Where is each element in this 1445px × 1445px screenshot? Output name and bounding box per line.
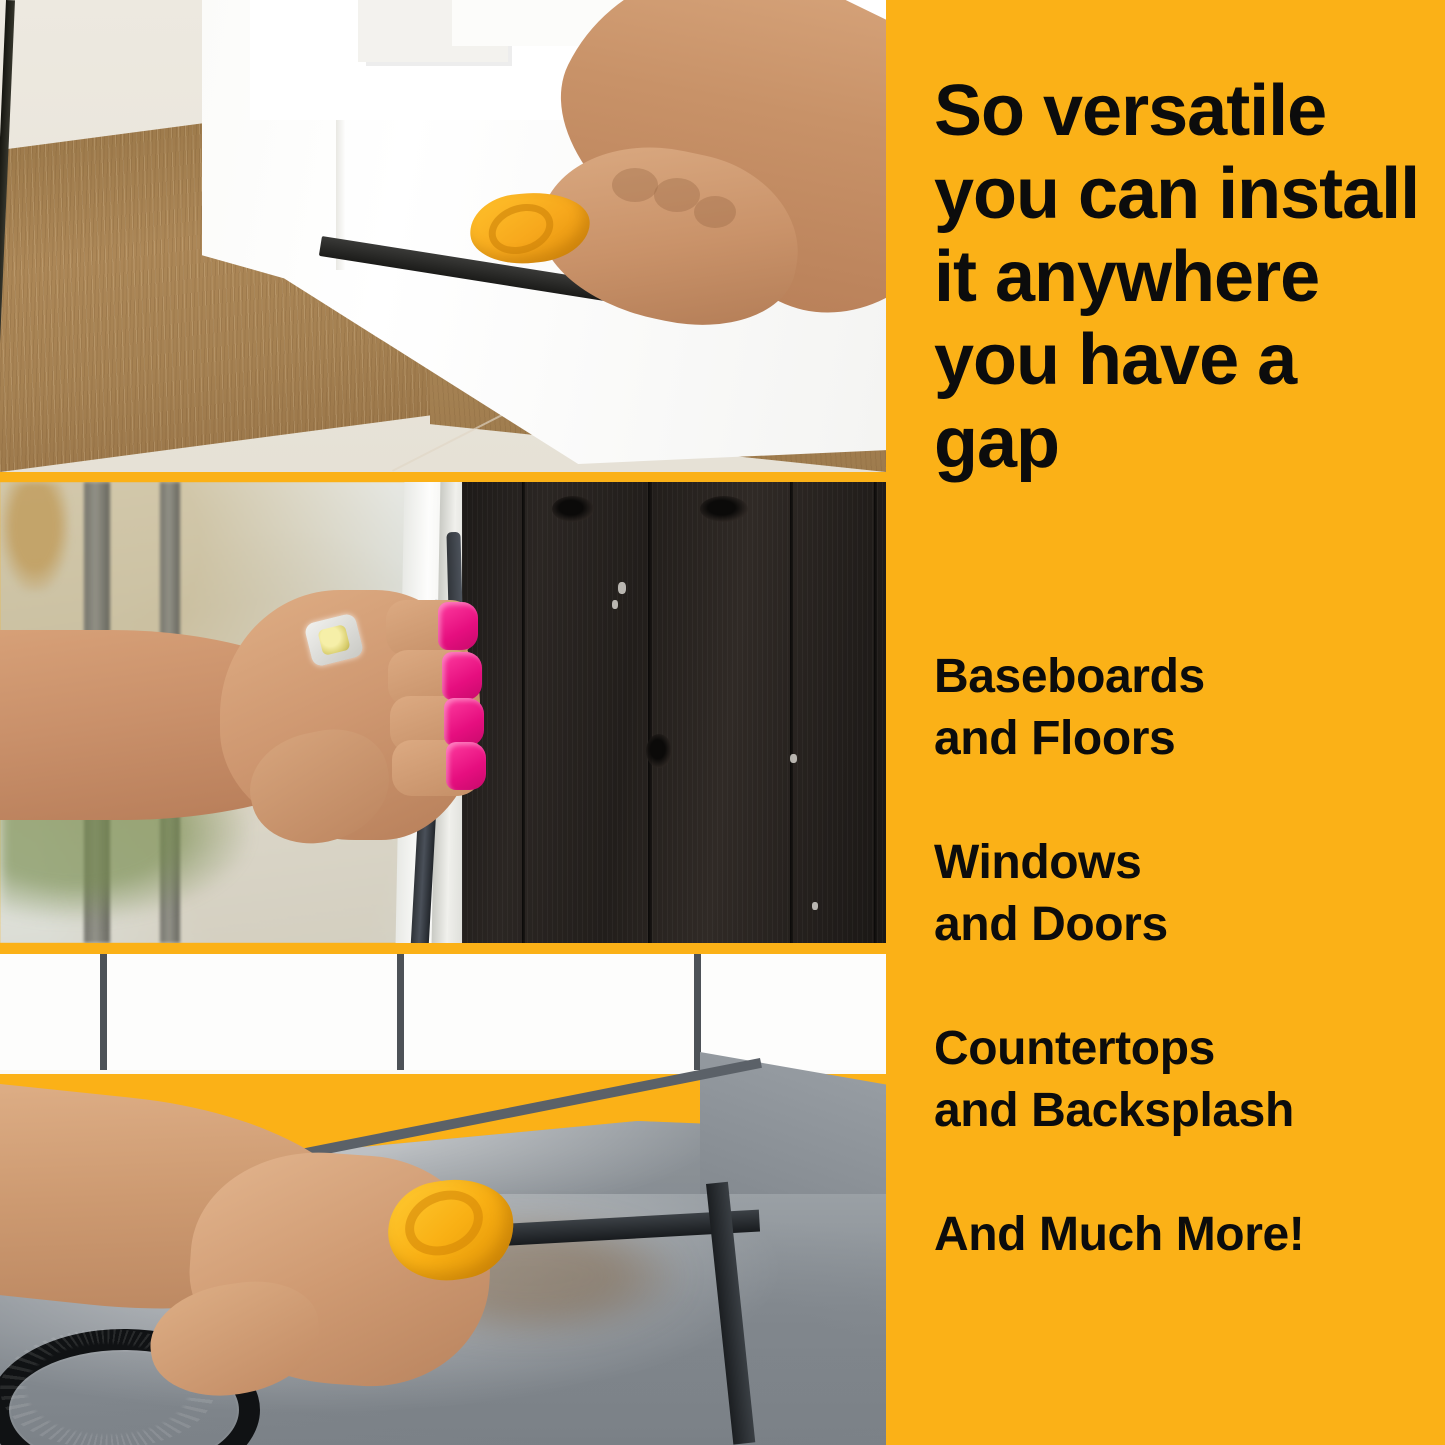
subway-tile-4 (701, 954, 886, 1070)
pink-nail-2 (442, 652, 482, 700)
baseboard-scene (0, 0, 886, 472)
photo-separator-1 (0, 472, 886, 482)
subway-tile-3 (404, 954, 701, 1070)
dark-wood-siding (462, 482, 886, 943)
plank-seam-b (648, 482, 652, 943)
plank-seam-d (874, 482, 877, 943)
wood-knot-2 (700, 496, 748, 522)
subway-tile-1 (0, 954, 107, 1070)
text-panel: So versatile you can install it anywhere… (886, 0, 1445, 1445)
photo-window-door-install (0, 482, 886, 943)
plank-seam-c (790, 482, 793, 943)
paint-fleck-1 (618, 582, 626, 594)
product-feature-graphic: So versatile you can install it anywhere… (0, 0, 1445, 1445)
knuckle-3 (694, 196, 736, 228)
photo-countertop-backsplash-install (0, 954, 886, 1445)
warm-light-reflection (0, 482, 70, 592)
knuckle-2 (654, 178, 700, 212)
headline: So versatile you can install it anywhere… (934, 70, 1434, 485)
benefit-item-baseboards-and-floors: Baseboards and Floors (934, 646, 1434, 770)
benefit-item-windows-and-doors: Windows and Doors (934, 832, 1434, 956)
subway-tile-2 (107, 954, 404, 1070)
photo-separator-2 (0, 943, 886, 954)
paint-fleck-3 (790, 754, 797, 763)
benefit-item-and-much-more: And Much More! (934, 1204, 1434, 1266)
wood-knot-3 (646, 734, 672, 768)
pink-nail-1 (438, 602, 478, 650)
benefit-list: Baseboards and Floors Windows and Doors … (934, 646, 1434, 1266)
photo-column (0, 0, 886, 1445)
photo-baseboard-floor-install (0, 0, 886, 472)
pink-nail-4 (446, 742, 486, 790)
wood-knot-1 (552, 496, 594, 522)
paint-fleck-2 (612, 600, 618, 609)
plank-seam-a (522, 482, 525, 943)
benefit-item-countertops-and-backsplash: Countertops and Backsplash (934, 1018, 1434, 1142)
window-scene (0, 482, 886, 943)
pink-nail-3 (444, 698, 484, 746)
countertop-scene (0, 954, 886, 1445)
paint-fleck-4 (812, 902, 818, 910)
knuckle-1 (612, 168, 658, 202)
